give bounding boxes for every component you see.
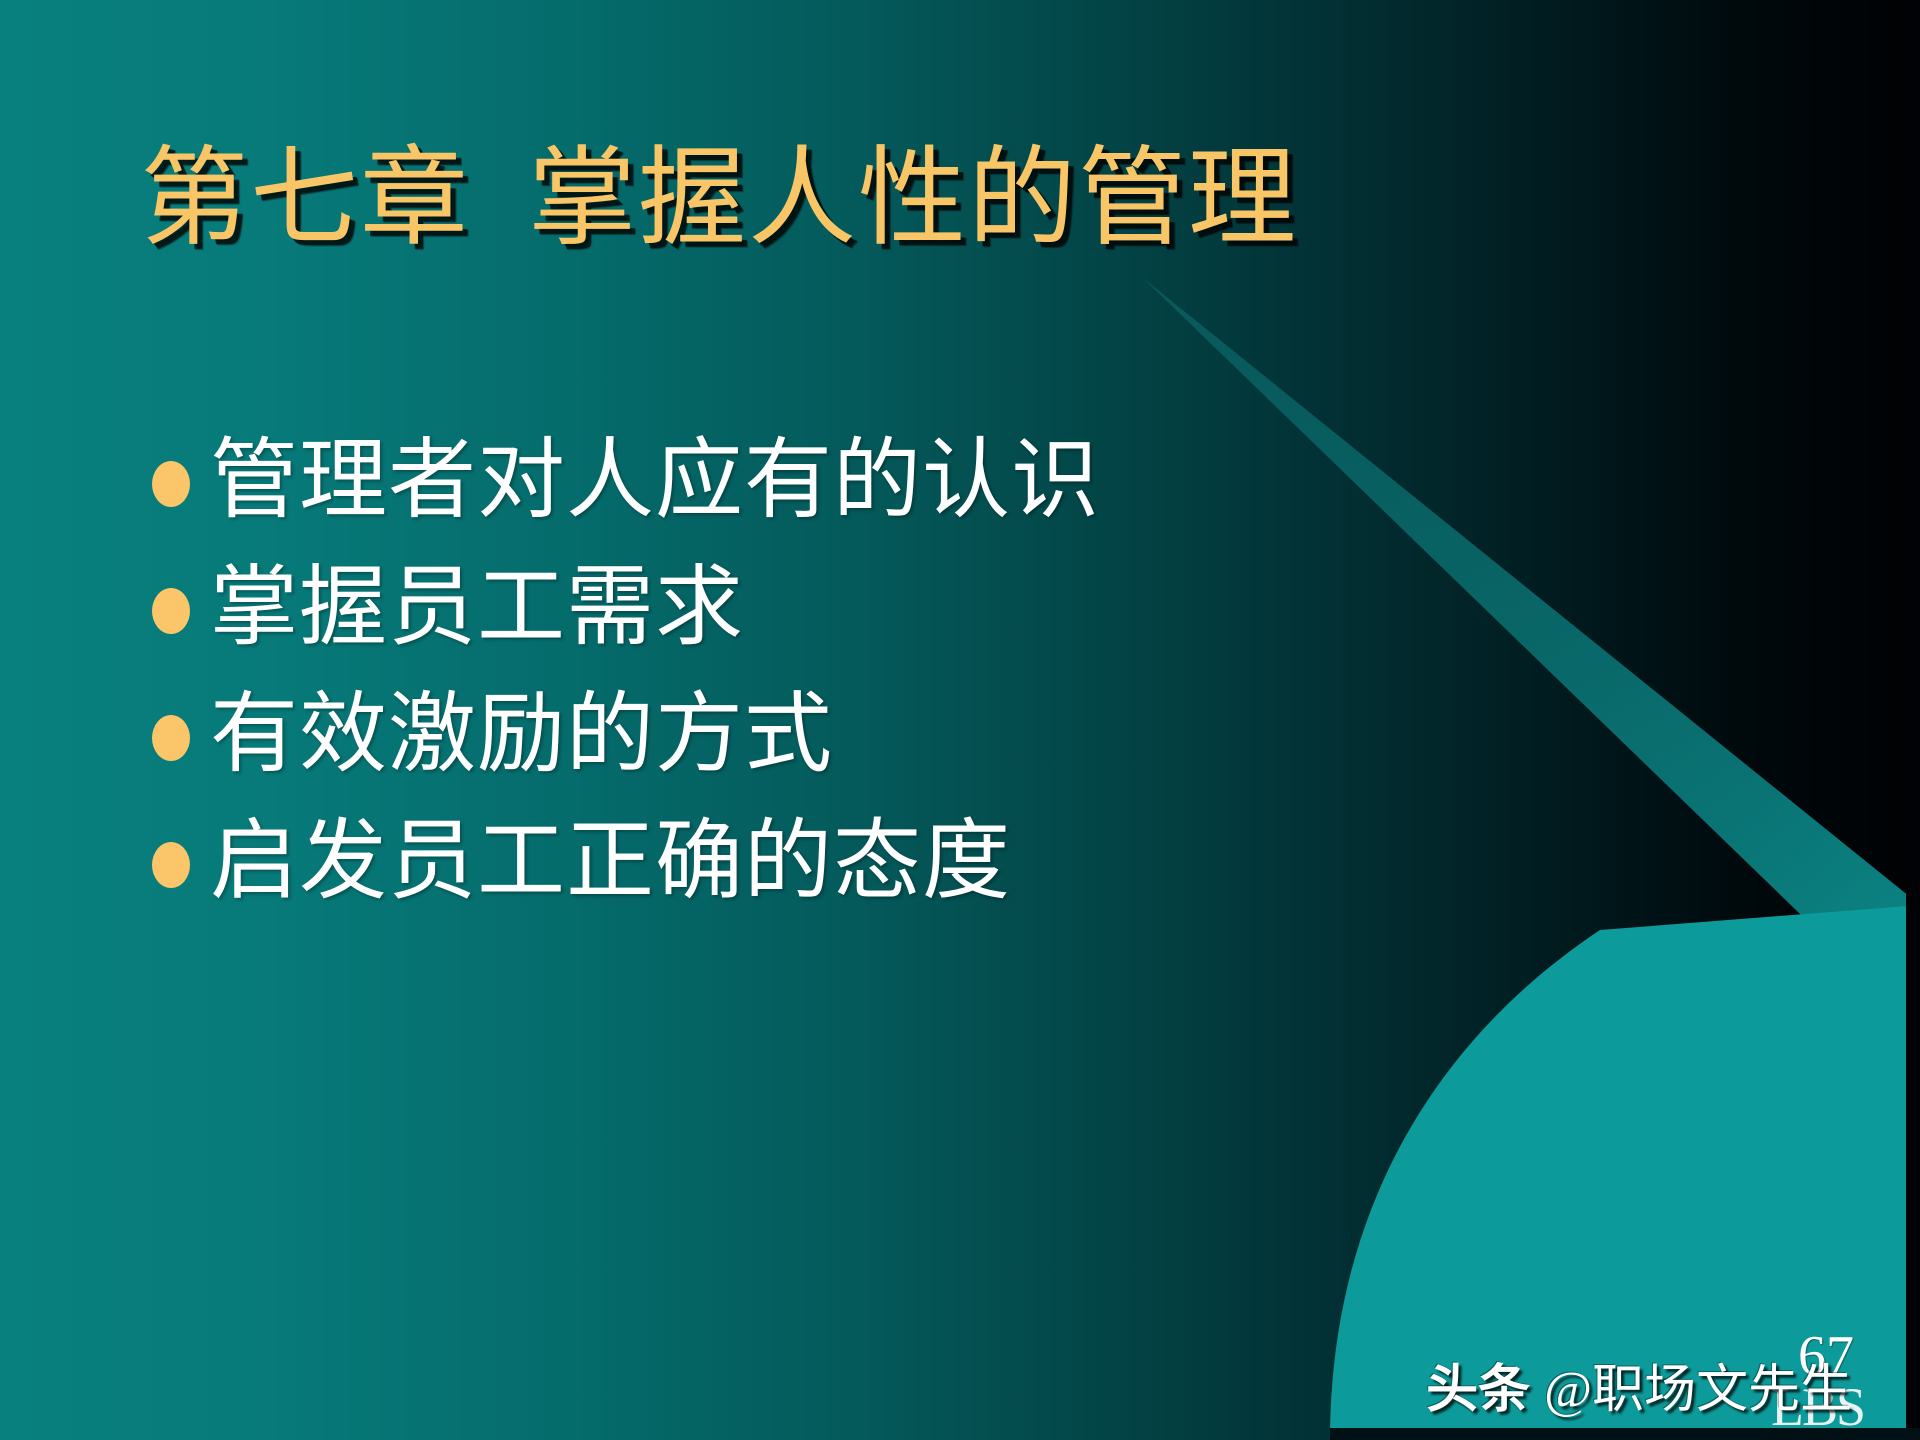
list-item-label: 掌握员工需求 bbox=[210, 565, 744, 653]
watermark: 头条 @职场文先生 bbox=[1426, 1347, 1852, 1422]
presentation-slide: 第七章 掌握人性的管理 管理者对人应有的认识 掌握员工需求 有效激励的方式 启发… bbox=[0, 0, 1920, 1440]
list-item[interactable]: 有效激励的方式 bbox=[152, 672, 1252, 799]
bullet-dot-icon bbox=[152, 715, 190, 761]
list-item-label: 启发员工正确的态度 bbox=[210, 819, 1011, 907]
right-edge-strip bbox=[1906, 0, 1920, 1440]
watermark-brand: 头条 bbox=[1426, 1347, 1530, 1422]
list-item[interactable]: 启发员工正确的态度 bbox=[152, 799, 1252, 926]
list-item[interactable]: 管理者对人应有的认识 bbox=[152, 418, 1252, 545]
bullet-dot-icon bbox=[152, 842, 190, 888]
list-item-label: 管理者对人应有的认识 bbox=[210, 438, 1100, 526]
watermark-handle: @职场文先生 bbox=[1544, 1347, 1852, 1422]
bullet-dot-icon bbox=[152, 461, 190, 507]
list-item[interactable]: 掌握员工需求 bbox=[152, 545, 1252, 672]
teal-ray-shape bbox=[1143, 278, 1920, 1030]
slide-title: 第七章 掌握人性的管理 bbox=[140, 140, 1298, 261]
bullet-list: 管理者对人应有的认识 掌握员工需求 有效激励的方式 启发员工正确的态度 bbox=[152, 418, 1252, 926]
list-item-label: 有效激励的方式 bbox=[210, 692, 833, 780]
bullet-dot-icon bbox=[152, 588, 190, 634]
